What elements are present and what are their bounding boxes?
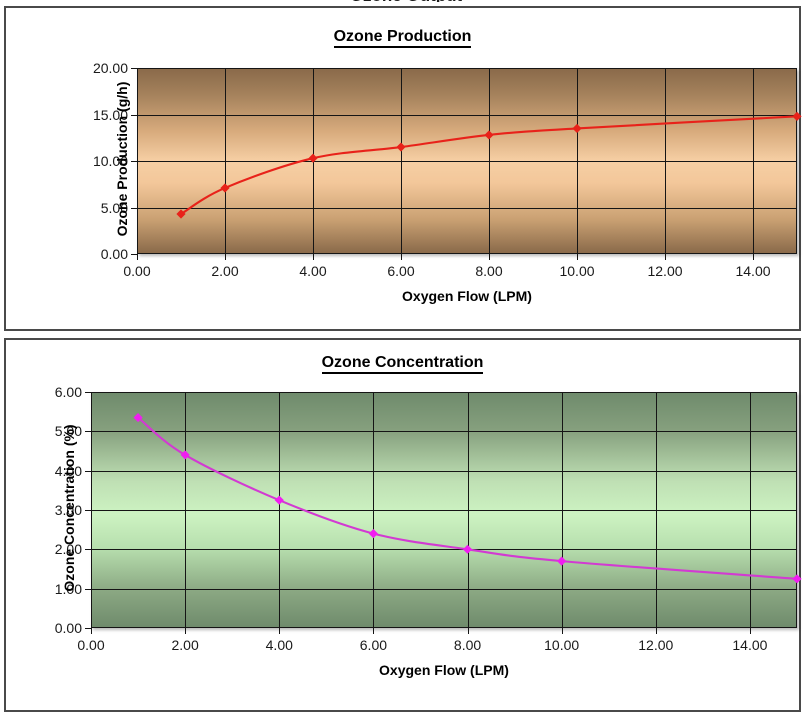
chart-title-ozone-concentration: Ozone Concentration — [6, 354, 799, 372]
data-point-marker — [308, 154, 317, 163]
x-axis-tick-label: 10.00 — [559, 263, 594, 279]
x-axis-tick-mark — [656, 628, 657, 634]
chart-title-ozone-production: Ozone Production — [6, 28, 799, 46]
data-point-marker — [396, 142, 405, 151]
x-axis-tick-mark — [373, 628, 374, 634]
x-axis-tick-mark — [577, 254, 578, 260]
x-axis-title-ozone-concentration: Oxygen Flow (LPM) — [91, 662, 797, 678]
x-axis-title-ozone-production: Oxygen Flow (LPM) — [137, 288, 797, 304]
chart-title-text: Ozone Production — [334, 28, 472, 48]
data-point-marker — [572, 124, 581, 133]
y-axis-title-ozone-production: Ozone Production (g/h) — [114, 66, 130, 252]
data-point-marker — [463, 545, 472, 554]
data-series-ozone-concentration — [91, 392, 797, 628]
y-axis-tick-mark — [85, 549, 91, 550]
x-axis-tick-label: 0.00 — [77, 637, 104, 653]
y-axis-title-ozone-concentration: Ozone Concentration (%) — [61, 390, 77, 626]
x-axis-tick-mark — [313, 254, 314, 260]
data-point-marker — [181, 450, 190, 459]
data-point-marker — [369, 529, 378, 538]
x-axis-tick-label: 14.00 — [735, 263, 770, 279]
x-axis-tick-label: 8.00 — [454, 637, 481, 653]
x-axis-tick-mark — [279, 628, 280, 634]
x-axis-tick-mark — [665, 254, 666, 260]
x-axis-tick-label: 6.00 — [360, 637, 387, 653]
x-axis-tick-label: 0.00 — [123, 263, 150, 279]
x-axis-tick-mark — [562, 628, 563, 634]
x-axis-tick-mark — [750, 628, 751, 634]
x-axis-tick-mark — [225, 254, 226, 260]
plot-region-ozone-production: 0.005.0010.0015.0020.00 0.002.004.006.00… — [137, 68, 797, 254]
x-axis-tick-label: 4.00 — [299, 263, 326, 279]
x-axis-tick-label: 2.00 — [172, 637, 199, 653]
x-axis-tick-label: 8.00 — [475, 263, 502, 279]
x-axis-tick-mark — [753, 254, 754, 260]
y-axis-tick-mark — [85, 471, 91, 472]
y-axis-tick-mark — [131, 161, 137, 162]
x-axis-tick-mark — [185, 628, 186, 634]
y-axis-tick-mark — [131, 208, 137, 209]
data-point-marker — [484, 130, 493, 139]
x-axis-tick-label: 4.00 — [266, 637, 293, 653]
page-heading-clipped: Ozone Output — [0, 0, 812, 2]
y-axis-tick-mark — [131, 68, 137, 69]
x-axis-tick-label: 2.00 — [211, 263, 238, 279]
data-point-marker — [792, 574, 801, 583]
x-axis-tick-label: 12.00 — [638, 637, 673, 653]
series-line — [138, 418, 797, 579]
data-series-ozone-production — [137, 68, 797, 254]
x-axis-tick-mark — [468, 628, 469, 634]
data-point-marker — [275, 496, 284, 505]
data-point-marker — [792, 112, 801, 121]
plot-region-ozone-concentration: 0.001.002.003.004.005.006.00 0.002.004.0… — [91, 392, 797, 628]
x-axis-tick-label: 6.00 — [387, 263, 414, 279]
x-axis-tick-mark — [91, 628, 92, 634]
chart-panel-ozone-concentration: Ozone Concentration 0.001.002.003.004.00… — [4, 338, 801, 712]
x-axis-tick-label: 10.00 — [544, 637, 579, 653]
chart-title-text: Ozone Concentration — [322, 354, 484, 374]
y-axis-tick-mark — [85, 392, 91, 393]
y-axis-tick-mark — [85, 510, 91, 511]
x-axis-tick-mark — [489, 254, 490, 260]
y-axis-tick-mark — [85, 589, 91, 590]
y-axis-tick-mark — [85, 431, 91, 432]
x-axis-tick-mark — [137, 254, 138, 260]
x-axis-tick-label: 12.00 — [647, 263, 682, 279]
y-axis-tick-mark — [131, 115, 137, 116]
data-point-marker — [220, 183, 229, 192]
chart-panel-ozone-production: Ozone Production 0.005.0010.0015.0020.00… — [4, 6, 801, 331]
data-point-marker — [557, 557, 566, 566]
x-axis-tick-label: 14.00 — [732, 637, 767, 653]
x-axis-tick-mark — [401, 254, 402, 260]
